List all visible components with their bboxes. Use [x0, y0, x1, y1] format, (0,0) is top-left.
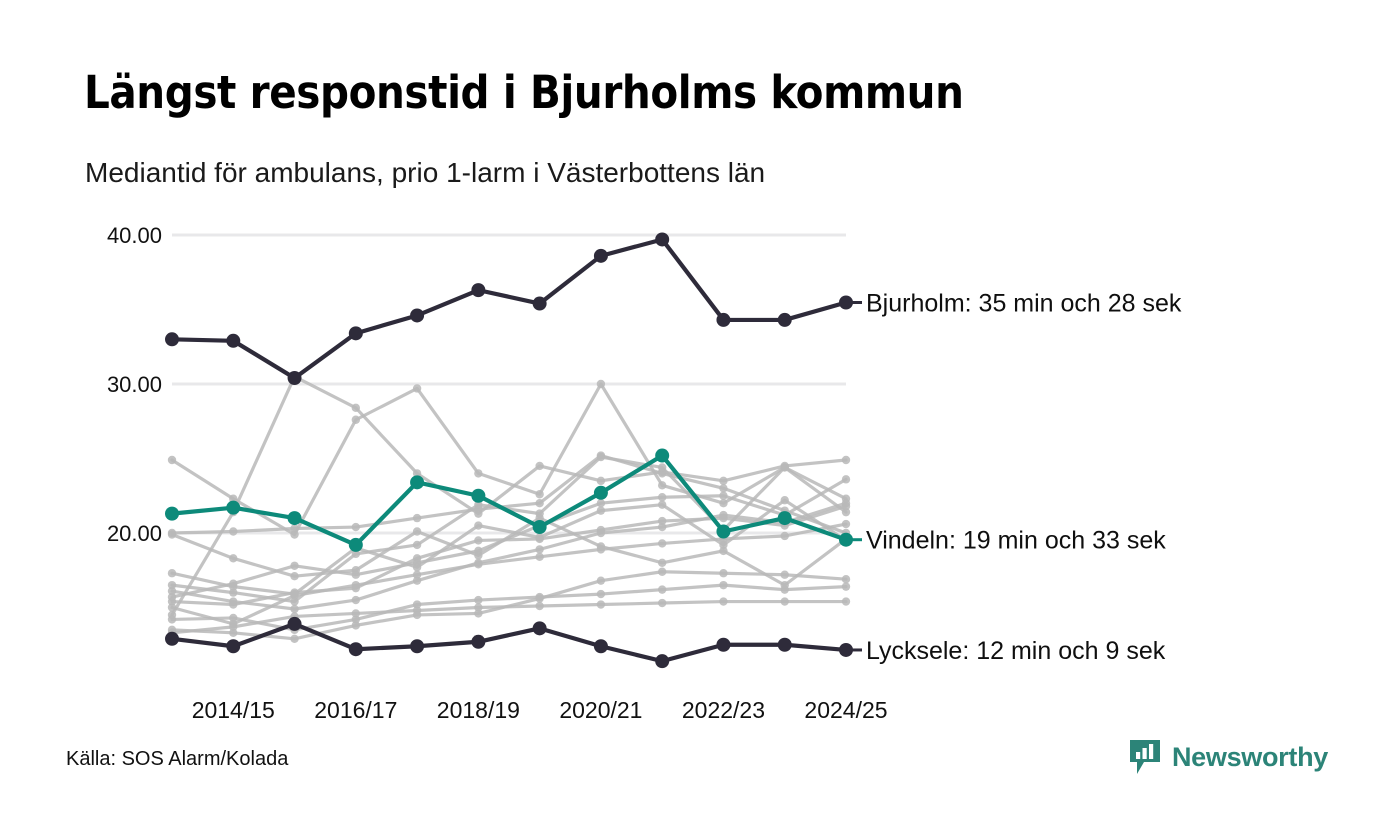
context-series-point — [290, 605, 298, 613]
context-series-point — [474, 536, 482, 544]
context-series-point — [719, 581, 727, 589]
context-series-point — [719, 547, 727, 555]
highlight-series-point[interactable] — [226, 334, 240, 348]
context-series-point — [719, 511, 727, 519]
chart-svg: 20.0030.0040.00Bjurholm: 35 min och 28 s… — [0, 0, 1400, 840]
series-label: Bjurholm: 35 min och 28 sek — [866, 289, 1182, 317]
highlight-series-point[interactable] — [778, 638, 792, 652]
context-series-point — [474, 469, 482, 477]
bar-chart-speech-bubble-icon — [1128, 738, 1162, 776]
series-label: Vindeln: 19 min och 33 sek — [866, 527, 1166, 555]
context-series-point — [229, 582, 237, 590]
context-series-point — [597, 499, 605, 507]
context-series-point — [290, 524, 298, 532]
highlight-series-point[interactable] — [716, 313, 730, 327]
source-note: Källa: SOS Alarm/Kolada — [66, 748, 288, 771]
highlight-series-point[interactable] — [716, 638, 730, 652]
highlight-series-point[interactable] — [288, 511, 302, 525]
context-series-point — [781, 532, 789, 540]
context-series-point — [413, 611, 421, 619]
context-series-point — [535, 533, 543, 541]
context-series-point — [535, 545, 543, 553]
highlight-series-point[interactable] — [594, 249, 608, 263]
highlight-series-point[interactable] — [288, 371, 302, 385]
context-series-point — [535, 490, 543, 498]
context-series-point — [658, 463, 666, 471]
highlight-series-point[interactable] — [288, 617, 302, 631]
context-series-point — [842, 475, 850, 483]
context-series-point — [290, 590, 298, 598]
highlight-series-point[interactable] — [655, 449, 669, 463]
context-series-point — [290, 572, 298, 580]
context-series-point — [842, 597, 850, 605]
context-series-point — [535, 553, 543, 561]
x-axis-tick-label: 2022/23 — [682, 697, 765, 723]
context-series-point — [658, 493, 666, 501]
context-series-point — [290, 635, 298, 643]
context-series-point — [658, 568, 666, 576]
context-series-point — [719, 499, 727, 507]
highlight-series-point[interactable] — [655, 232, 669, 246]
highlight-series-point[interactable] — [533, 621, 547, 635]
context-series-point — [352, 621, 360, 629]
context-series-point — [474, 596, 482, 604]
context-series-point — [229, 629, 237, 637]
context-series-point — [352, 523, 360, 531]
context-series-point — [474, 609, 482, 617]
x-axis-tick-label: 2016/17 — [314, 697, 397, 723]
highlight-series-point[interactable] — [594, 486, 608, 500]
context-series-point — [719, 484, 727, 492]
context-series-point — [658, 559, 666, 567]
line-chart: 20.0030.0040.00Bjurholm: 35 min och 28 s… — [0, 0, 1400, 840]
highlight-series-point[interactable] — [716, 525, 730, 539]
highlight-series-line[interactable] — [172, 239, 846, 378]
context-series-point — [781, 571, 789, 579]
y-axis-tick-label: 30.00 — [107, 372, 162, 397]
highlight-series-point[interactable] — [226, 501, 240, 515]
context-series-point — [842, 456, 850, 464]
highlight-series-point[interactable] — [655, 654, 669, 668]
context-series-point — [168, 603, 176, 611]
context-series-point — [413, 514, 421, 522]
context-series-point — [597, 380, 605, 388]
context-series-point — [597, 477, 605, 485]
context-series-point — [413, 527, 421, 535]
context-series-point — [413, 576, 421, 584]
x-axis-tick-label: 2024/25 — [804, 697, 887, 723]
context-series-point — [535, 602, 543, 610]
highlight-series-point[interactable] — [533, 297, 547, 311]
context-series-point — [781, 597, 789, 605]
highlight-series-point[interactable] — [594, 639, 608, 653]
context-series-point — [474, 521, 482, 529]
context-series-point — [413, 563, 421, 571]
x-axis-tick-label: 2014/15 — [192, 697, 275, 723]
x-axis-tick-label: 2020/21 — [559, 697, 642, 723]
context-series-point — [658, 523, 666, 531]
highlight-series-point[interactable] — [410, 639, 424, 653]
context-series-point — [781, 496, 789, 504]
context-series-point — [352, 566, 360, 574]
context-series-point — [413, 384, 421, 392]
highlight-series-point[interactable] — [471, 635, 485, 649]
series-label: Lycksele: 12 min och 9 sek — [866, 637, 1166, 665]
context-series-point — [781, 463, 789, 471]
context-series-point — [168, 530, 176, 538]
context-series-point — [597, 506, 605, 514]
logo-wordmark: Newsworthy — [1172, 744, 1328, 771]
context-series-point — [597, 542, 605, 550]
highlight-series-point[interactable] — [410, 475, 424, 489]
context-series-point — [658, 599, 666, 607]
context-series-point — [597, 529, 605, 537]
context-series-point — [842, 499, 850, 507]
highlight-series-point[interactable] — [471, 283, 485, 297]
context-series-line — [172, 503, 846, 609]
context-series-point — [658, 539, 666, 547]
context-series-point — [719, 569, 727, 577]
context-series-point — [474, 559, 482, 567]
highlight-series-point[interactable] — [471, 489, 485, 503]
context-series-point — [229, 597, 237, 605]
context-series-point — [168, 587, 176, 595]
context-series-point — [352, 404, 360, 412]
x-axis-tick-label: 2018/19 — [437, 697, 520, 723]
context-series-point — [168, 569, 176, 577]
context-series-point — [781, 581, 789, 589]
context-series-point — [597, 600, 605, 608]
highlight-series-point[interactable] — [165, 632, 179, 646]
context-series-point — [597, 590, 605, 598]
highlight-series-point[interactable] — [349, 642, 363, 656]
context-series-point — [842, 520, 850, 528]
context-series-point — [719, 477, 727, 485]
highlight-series-point[interactable] — [165, 507, 179, 521]
context-series-point — [229, 614, 237, 622]
context-series-point — [413, 541, 421, 549]
context-series-point — [413, 554, 421, 562]
context-series-point — [842, 582, 850, 590]
context-series-point — [352, 581, 360, 589]
highlight-series-point[interactable] — [410, 308, 424, 322]
context-series-point — [719, 492, 727, 500]
context-series-point — [168, 615, 176, 623]
context-series-point — [168, 456, 176, 464]
highlight-series-point[interactable] — [533, 520, 547, 534]
highlight-series-point[interactable] — [226, 639, 240, 653]
context-series-point — [290, 562, 298, 570]
highlight-series-point[interactable] — [349, 326, 363, 340]
context-series-point — [842, 575, 850, 583]
context-series-point — [719, 597, 727, 605]
context-series-point — [597, 453, 605, 461]
context-series-point — [535, 594, 543, 602]
context-series-point — [658, 500, 666, 508]
context-series-point — [229, 554, 237, 562]
context-series-point — [474, 551, 482, 559]
context-series-point — [229, 527, 237, 535]
highlight-series-point[interactable] — [165, 332, 179, 346]
highlight-series-point[interactable] — [349, 538, 363, 552]
context-series-point — [597, 576, 605, 584]
y-axis-tick-label: 20.00 — [107, 521, 162, 546]
context-series-point — [352, 416, 360, 424]
context-series-point — [535, 499, 543, 507]
context-series-point — [535, 462, 543, 470]
y-axis-tick-label: 40.00 — [107, 223, 162, 248]
context-series-point — [658, 481, 666, 489]
newsworthy-logo: Newsworthy — [1128, 738, 1328, 776]
context-series-point — [658, 585, 666, 593]
chart-page: Längst responstid i Bjurholms kommun Med… — [0, 0, 1400, 840]
highlight-series-point[interactable] — [778, 511, 792, 525]
context-series-point — [352, 596, 360, 604]
highlight-series-line[interactable] — [172, 624, 846, 661]
highlight-series-point[interactable] — [778, 313, 792, 327]
context-series-point — [352, 609, 360, 617]
